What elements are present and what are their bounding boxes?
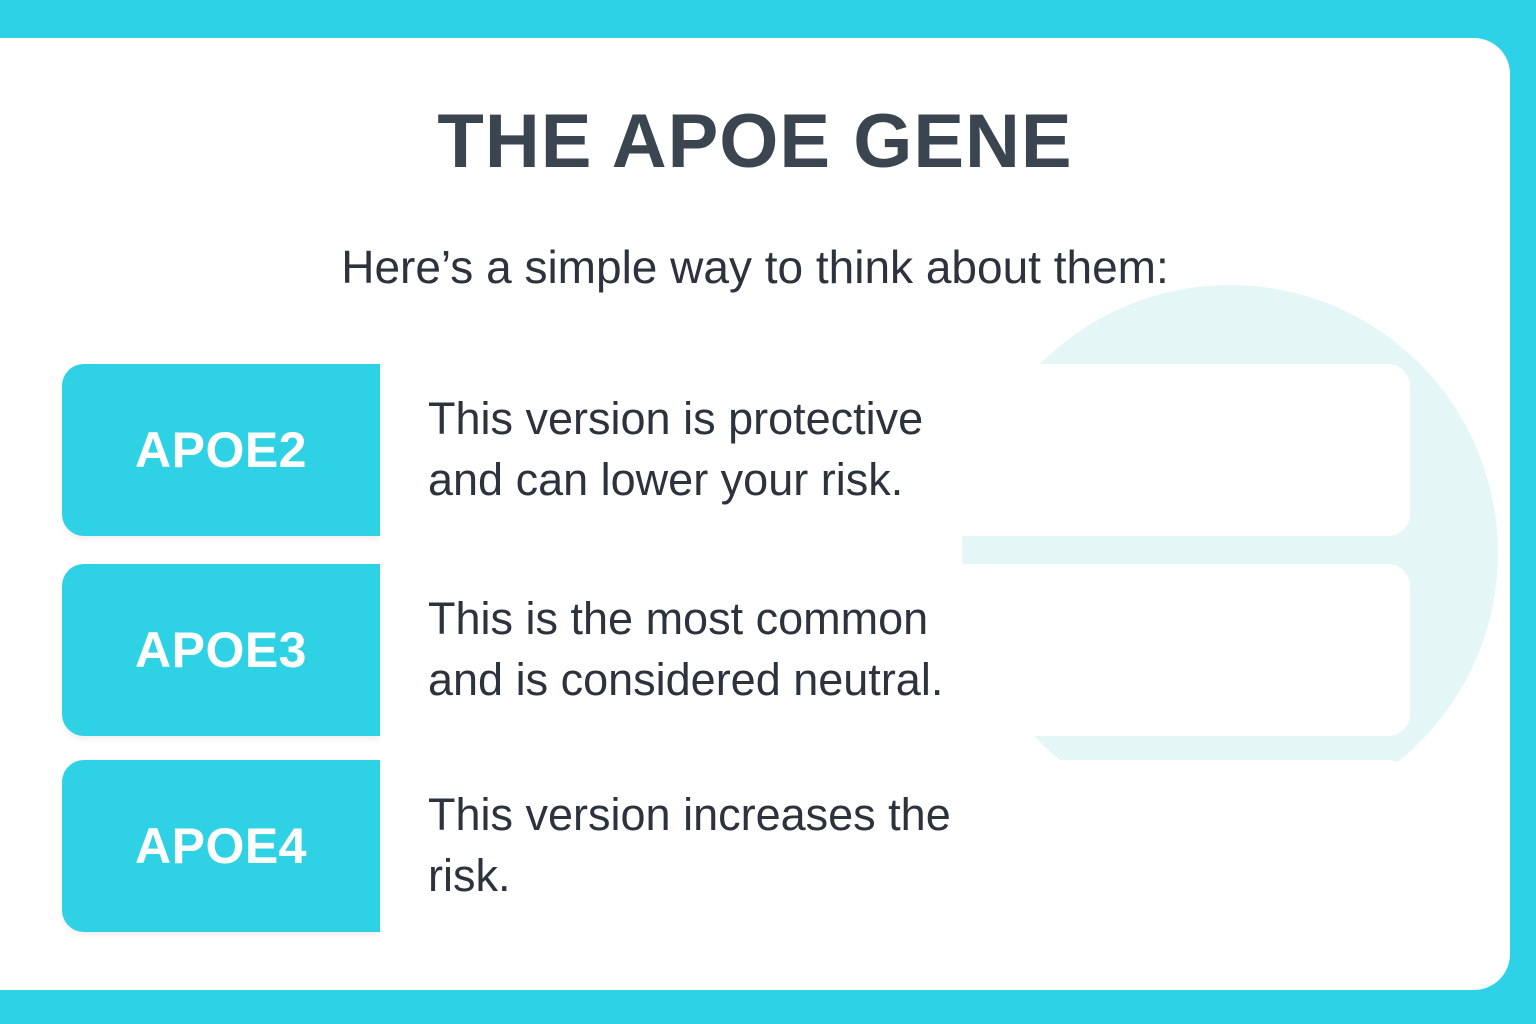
page-subtitle: Here’s a simple way to think about them: [0,244,1510,290]
infographic-slide: THE APOE GENE Here’s a simple way to thi… [0,0,1536,1024]
badge-apoe3[interactable]: APOE3 [62,564,380,736]
description-line-2: and can lower your risk. [428,450,1410,511]
gene-variant-row: APOE4 This version increases the risk. [62,760,1410,932]
badge-label: APOE2 [135,425,307,475]
badge-apoe4[interactable]: APOE4 [62,760,380,932]
badge-label: APOE3 [135,625,307,675]
description-line-2: and is considered neutral. [428,650,1410,711]
panel-content: THE APOE GENE Here’s a simple way to thi… [0,38,1510,990]
row-description: This is the most common and is considere… [380,564,1410,736]
badge-label: APOE4 [135,821,307,871]
gene-variant-row: APOE2 This version is protective and can… [62,364,1410,536]
gene-variant-row: APOE3 This is the most common and is con… [62,564,1410,736]
badge-apoe2[interactable]: APOE2 [62,364,380,536]
row-description: This version increases the risk. [380,760,1410,932]
description-line-1: This version is protective [428,389,1410,450]
content-panel: THE APOE GENE Here’s a simple way to thi… [0,38,1510,990]
description-line-1: This is the most common [428,589,1410,650]
description-line-2: risk. [428,846,1410,907]
description-line-1: This version increases the [428,785,1410,846]
page-title: THE APOE GENE [0,104,1510,180]
row-description: This version is protective and can lower… [380,364,1410,536]
